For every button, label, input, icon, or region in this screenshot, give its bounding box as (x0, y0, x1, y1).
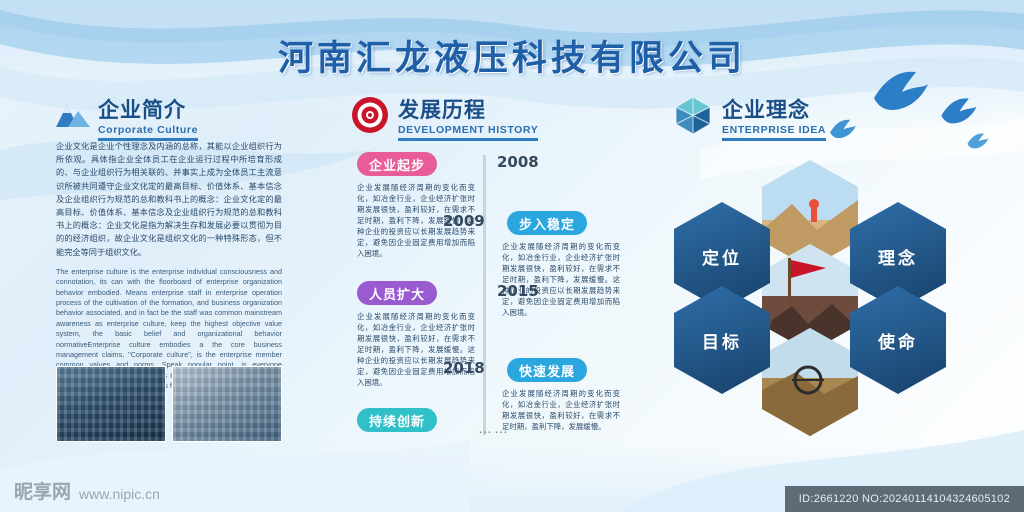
section-title-cn: 企业简介 (98, 94, 198, 124)
section-underline (398, 138, 538, 141)
id-bar: ID:2661220 NO:20240114104324605102 (785, 486, 1024, 512)
section-underline (722, 138, 826, 141)
section-title-cn: 发展历程 (398, 94, 538, 124)
diamond-gem-icon (672, 94, 714, 141)
timeline-pill-2[interactable]: 人员扩大 (357, 281, 437, 305)
target-bullseye-icon (350, 95, 390, 140)
dove-icon (966, 132, 990, 150)
enterprise-idea-hex-cluster: 定位 理念 目标 使命 (660, 160, 960, 450)
hex-label-3[interactable]: 使命 (850, 286, 946, 394)
poster-canvas: 河南汇龙液压科技有限公司 企业简介 Corporate Culture 企业文化… (0, 0, 1024, 512)
timeline-year-2: 2015 (497, 282, 539, 300)
watermark-url: www.nipic.cn (79, 486, 160, 504)
hex-label-text: 理念 (878, 244, 918, 269)
watermark: 昵享网 www.nipic.cn (14, 477, 160, 504)
hex-label-text: 使命 (878, 328, 918, 353)
page-title-wrap: 河南汇龙液压科技有限公司 (0, 30, 1024, 81)
timeline-pill-1[interactable]: 步入稳定 (507, 211, 587, 235)
timeline-year-1: 2009 (443, 212, 485, 230)
section-head-corporate-culture: 企业简介 Corporate Culture (56, 94, 198, 141)
glass-building-photo (56, 366, 166, 442)
corporate-culture-body: 企业文化是企业个性理念及内涵的总称，其能以企业组织行为所依观。具体指企业全体员工… (56, 140, 282, 392)
timeline-year-0: 2008 (497, 153, 539, 171)
id-text: ID:2661220 NO:20240114104324605102 (799, 493, 1010, 505)
hex-label-text: 定位 (702, 244, 742, 269)
dove-icon (828, 118, 858, 140)
section-title-en: DEVELOPMENT HISTORY (398, 124, 538, 136)
dove-icon (872, 68, 930, 114)
photo-strip (56, 366, 282, 442)
timeline-rail (483, 155, 486, 435)
section-head-enterprise-idea: 企业理念 ENTERPRISE IDEA (672, 94, 826, 141)
section-title-en: Corporate Culture (98, 124, 198, 136)
timeline-text-3: 企业发展随经济周期的变化而变化，如冶金行业，企业经济扩张时期发展很快，盈利较好，… (502, 388, 620, 432)
timeline-pill-0[interactable]: 企业起步 (357, 152, 437, 176)
timeline-year-3: 2018 (443, 359, 485, 377)
timeline-text-1: 企业发展随经济周期的变化而变化，如冶金行业，企业经济扩张时期发展很快，盈利较好，… (502, 241, 620, 318)
timeline-year-4: …… (478, 420, 510, 436)
mountain-triangle-icon (56, 103, 90, 133)
watermark-logo: 昵享网 (14, 477, 71, 504)
page-title: 河南汇龙液压科技有限公司 (0, 30, 1024, 81)
modern-building-photo (172, 366, 282, 442)
hex-photo-archer (762, 328, 858, 436)
section-title-en: ENTERPRISE IDEA (722, 124, 826, 136)
timeline-pill-3[interactable]: 快速发展 (507, 358, 587, 382)
section-title-cn: 企业理念 (722, 94, 826, 124)
dove-icon (938, 96, 980, 126)
culture-paragraph-cn: 企业文化是企业个性理念及内涵的总称，其能以企业组织行为所依观。具体指企业全体员工… (56, 140, 282, 259)
section-head-development-history: 发展历程 DEVELOPMENT HISTORY (350, 94, 538, 141)
hex-label-text: 目标 (702, 328, 742, 353)
timeline-pill-4[interactable]: 持续创新 (357, 408, 437, 432)
hex-label-2[interactable]: 目标 (674, 286, 770, 394)
